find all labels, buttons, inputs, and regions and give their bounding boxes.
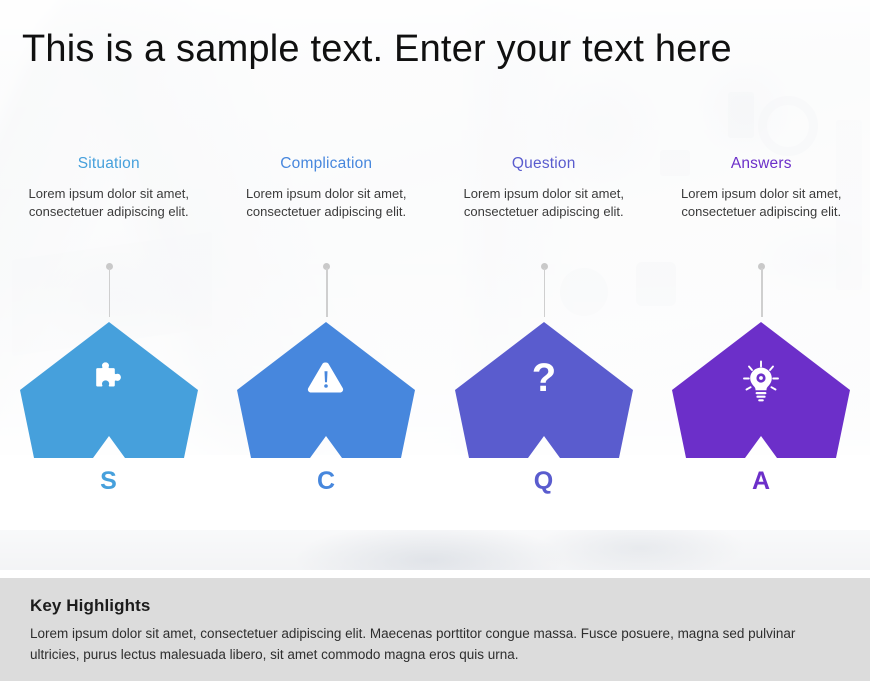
page-title: This is a sample text. Enter your text h… (22, 28, 732, 71)
key-highlights-title: Key Highlights (30, 596, 840, 616)
column-answers[interactable]: Answers Lorem ipsum dolor sit amet, cons… (653, 155, 870, 515)
connector-stem (761, 268, 763, 317)
scqa-columns: Situation Lorem ipsum dolor sit amet, co… (0, 155, 870, 515)
column-heading: Situation (78, 155, 140, 173)
key-highlights-body: Lorem ipsum dolor sit amet, consectetuer… (30, 624, 840, 665)
column-heading: Answers (731, 155, 792, 173)
pentagon-shape (18, 320, 200, 460)
background-lower-strip (0, 530, 870, 570)
column-letter: C (317, 467, 336, 496)
column-complication[interactable]: Complication Lorem ipsum dolor sit amet,… (218, 155, 436, 515)
pentagon-badge-situation[interactable] (18, 320, 200, 460)
column-body-text: Lorem ipsum dolor sit amet, consectetuer… (672, 185, 850, 222)
column-heading: Complication (280, 155, 372, 173)
pentagon-shape (453, 320, 635, 460)
column-body-text: Lorem ipsum dolor sit amet, consectetuer… (20, 185, 198, 222)
column-situation[interactable]: Situation Lorem ipsum dolor sit amet, co… (0, 155, 218, 515)
slide-canvas: This is a sample text. Enter your text h… (0, 0, 870, 681)
pentagon-badge-question[interactable]: ? (453, 320, 635, 460)
pentagon-badge-answers[interactable] (670, 320, 852, 460)
connector-line (756, 263, 766, 317)
connector-stem (326, 268, 328, 317)
connector-line (321, 263, 331, 317)
column-body-text: Lorem ipsum dolor sit amet, consectetuer… (455, 185, 633, 222)
pentagon-shape (235, 320, 417, 460)
column-letter: S (100, 467, 117, 496)
column-question[interactable]: Question Lorem ipsum dolor sit amet, con… (435, 155, 653, 515)
connector-stem (109, 268, 111, 317)
key-highlights-panel: Key Highlights Lorem ipsum dolor sit ame… (0, 578, 870, 681)
column-heading: Question (512, 155, 576, 173)
pentagon-badge-complication[interactable] (235, 320, 417, 460)
connector-line (539, 263, 549, 317)
column-letter: A (752, 467, 771, 496)
column-letter: Q (534, 467, 554, 496)
connector-stem (544, 268, 546, 317)
connector-line (104, 263, 114, 317)
column-body-text: Lorem ipsum dolor sit amet, consectetuer… (237, 185, 415, 222)
pentagon-shape (670, 320, 852, 460)
